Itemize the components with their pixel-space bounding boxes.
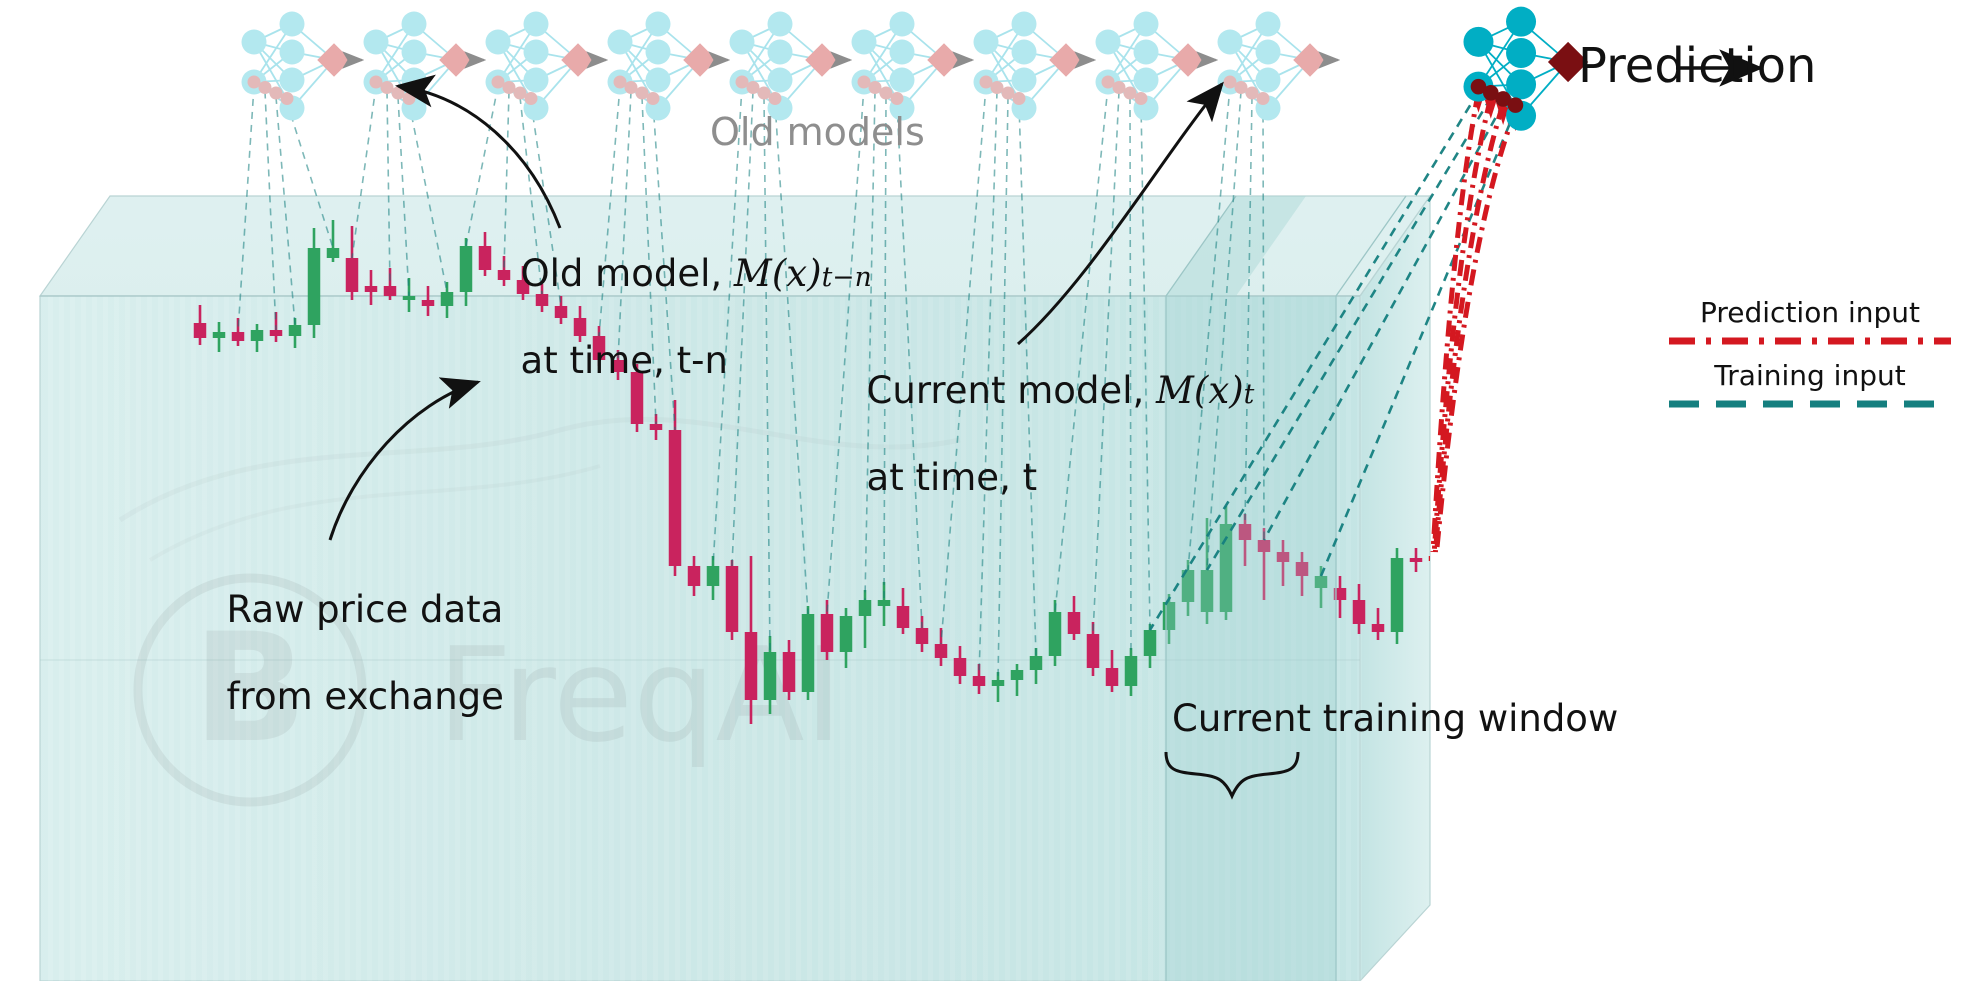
old-model-math-base: M bbox=[734, 252, 772, 295]
current-model-annotation-line1-text: Current model, bbox=[867, 369, 1156, 412]
current-model-math-subscript: t bbox=[1244, 379, 1255, 410]
legend: Prediction input Training input bbox=[1665, 296, 1955, 422]
prediction-input-lines bbox=[1433, 91, 1522, 552]
current-model-math-base: M bbox=[1156, 369, 1194, 412]
raw-data-line1: Raw price data bbox=[227, 588, 504, 631]
legend-entry-prediction-input: Prediction input bbox=[1665, 296, 1955, 355]
raw-price-data-annotation: Raw price data from exchange bbox=[203, 544, 504, 719]
old-models-label: Old models bbox=[710, 110, 925, 155]
prediction-label: Prediction bbox=[1578, 38, 1816, 95]
old-model-math-subscript: t−n bbox=[822, 262, 872, 293]
legend-label-prediction-input: Prediction input bbox=[1665, 296, 1955, 329]
legend-swatch-prediction-input bbox=[1665, 331, 1955, 351]
legend-swatch-training-input bbox=[1665, 394, 1955, 414]
old-model-annotation: Old model, M(x)t−n at time, t-n bbox=[497, 208, 872, 383]
current-model-annotation-line2: at time, t bbox=[867, 456, 1038, 499]
old-model-annotation-line1-text: Old model, bbox=[521, 252, 734, 295]
old-model-math-arg: (x) bbox=[772, 252, 822, 295]
current-model-math-arg: (x) bbox=[1194, 369, 1244, 412]
diagram-canvas: B FreqAI Old models Old model, M(x)t−n a… bbox=[0, 0, 1966, 981]
legend-label-training-input: Training input bbox=[1665, 359, 1955, 392]
current-model-annotation: Current model, M(x)t at time, t bbox=[843, 325, 1254, 500]
current-training-window-label: Current training window bbox=[1172, 697, 1618, 741]
old-model-annotation-line2: at time, t-n bbox=[521, 339, 728, 382]
old-model-networks bbox=[242, 12, 1339, 121]
raw-data-line2: from exchange bbox=[227, 675, 504, 718]
legend-entry-training-input: Training input bbox=[1665, 359, 1955, 418]
